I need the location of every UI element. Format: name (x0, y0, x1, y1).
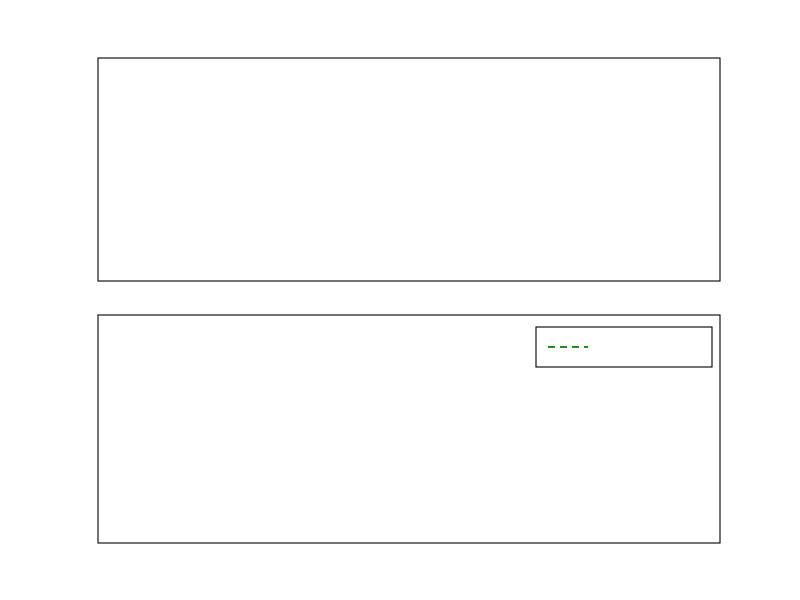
matplotlib-figure (0, 0, 800, 600)
legend[interactable] (536, 327, 712, 367)
top-axes-differential-histogram (98, 58, 720, 281)
top-plot-area (98, 58, 720, 281)
figure-canvas (0, 0, 800, 600)
